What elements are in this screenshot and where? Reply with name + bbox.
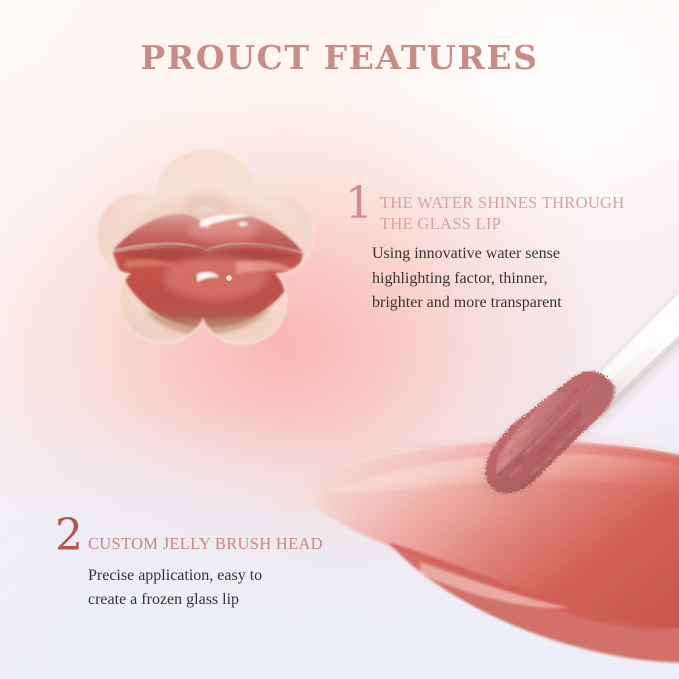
- feature-1-heading-row: 1 THE WATER SHINES THROUGH THE GLASS LIP: [345, 186, 645, 234]
- feature-1-title: THE WATER SHINES THROUGH THE GLASS LIP: [380, 186, 645, 234]
- feature-1-body: Using innovative water sense highlightin…: [372, 242, 645, 315]
- feature-2-body: Precise application, easy to create a fr…: [88, 564, 375, 613]
- page-title: PROUCT FEATURES: [0, 38, 679, 77]
- flower-mask-group: [95, 142, 320, 367]
- feature-1-body-line-1: Using innovative water sense: [372, 242, 645, 266]
- applicator-wand-image: [427, 288, 679, 538]
- feature-1-body-line-3: brighter and more transparent: [372, 291, 645, 315]
- feature-2-title: CUSTOM JELLY BRUSH HEAD: [88, 518, 323, 555]
- lips-flower-image: [95, 142, 320, 367]
- lips-specular-lower-dot: [226, 275, 232, 281]
- feature-block-2: 2 CUSTOM JELLY BRUSH HEAD Precise applic…: [55, 518, 375, 613]
- feature-1-title-line-2: THE GLASS LIP: [380, 214, 501, 233]
- feature-2-body-line-1: Precise application, easy to: [88, 564, 375, 588]
- lips-specular-upper-dot: [238, 221, 248, 226]
- feature-2-number: 2: [55, 518, 83, 555]
- feature-1-body-line-2: highlighting factor, thinner,: [372, 267, 645, 291]
- product-feature-poster: PROUCT FEATURES: [0, 0, 679, 679]
- feature-2-body-line-2: create a frozen glass lip: [88, 588, 375, 612]
- feature-2-heading-row: 2 CUSTOM JELLY BRUSH HEAD: [55, 518, 375, 555]
- lips-gloss-soft-upper: [187, 218, 259, 242]
- feature-2-title-line-1: CUSTOM JELLY BRUSH HEAD: [88, 534, 323, 553]
- feature-block-1: 1 THE WATER SHINES THROUGH THE GLASS LIP…: [345, 186, 645, 315]
- brush-head: [485, 371, 614, 493]
- feature-1-number: 1: [345, 186, 373, 223]
- feature-1-title-line-1: THE WATER SHINES THROUGH: [380, 193, 624, 212]
